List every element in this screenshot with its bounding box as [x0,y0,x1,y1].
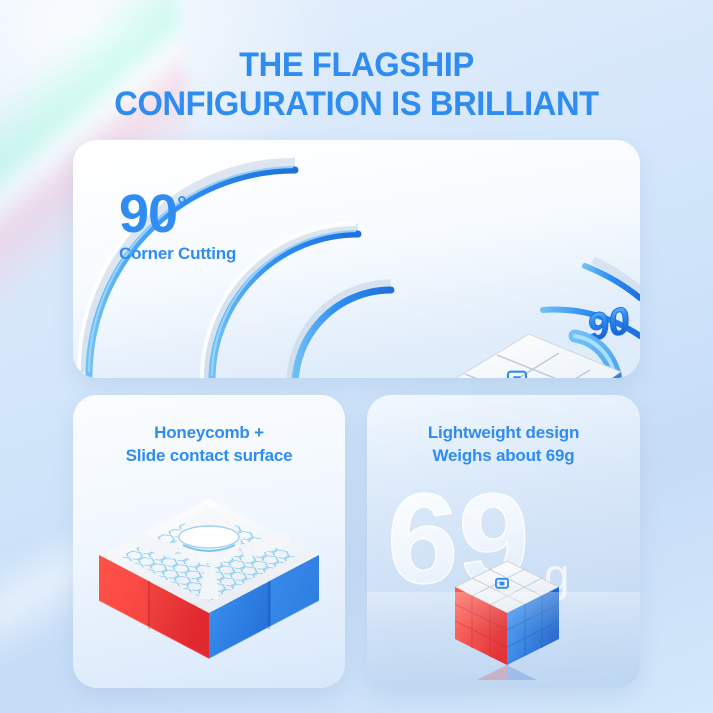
honeycomb-title-line-2: Slide contact surface [73,444,345,467]
angle-value: 90° [119,188,236,240]
headline-line-2: CONFIGURATION IS BRILLIANT [14,85,698,124]
lightweight-title: Lightweight design Weighs about 69g [367,421,640,467]
lightweight-title-line-1: Lightweight design [367,421,640,444]
card-honeycomb[interactable]: Honeycomb + Slide contact surface [73,395,345,688]
card-lightweight[interactable]: Lightweight design Weighs about 69g 69 g [367,395,640,688]
card-corner-cutting[interactable]: 90° Corner Cutting 90 [73,140,640,378]
lightweight-title-line-2: Weighs about 69g [367,444,640,467]
page-headline: THE FLAGSHIP CONFIGURATION IS BRILLIANT [14,46,698,124]
speed-cube-rotating-illustration [425,300,640,378]
corner-cutting-caption: Corner Cutting [119,244,236,264]
reflective-ground [367,592,640,688]
honeycomb-surface-illustration [87,481,331,671]
honeycomb-title-line-1: Honeycomb + [73,421,345,444]
corner-cutting-label: 90° Corner Cutting [119,188,236,264]
headline-line-1: THE FLAGSHIP [14,46,698,85]
honeycomb-title: Honeycomb + Slide contact surface [73,421,345,467]
